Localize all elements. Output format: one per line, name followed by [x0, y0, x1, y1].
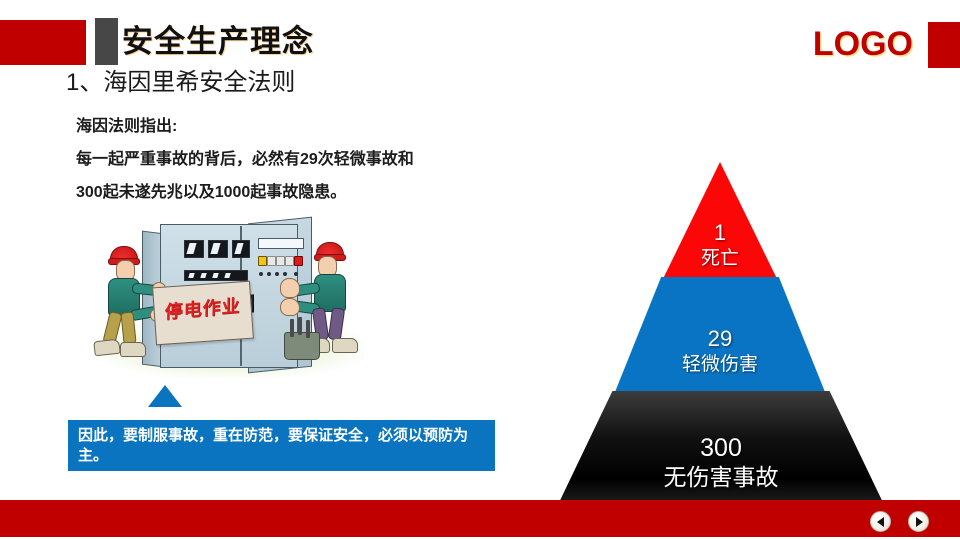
next-slide-button[interactable] — [908, 511, 929, 532]
arrow-left-icon — [877, 517, 884, 527]
meter-glint-1 — [186, 243, 196, 254]
heinrich-accident-pyramid: 1 死亡 29 轻微伤害 300 无伤害事故 — [520, 160, 940, 520]
page-title: 安全生产理念 — [122, 20, 314, 64]
pilot-dot-3 — [275, 272, 279, 276]
meter-display-2 — [208, 240, 228, 258]
pilot-dot-4 — [283, 272, 287, 276]
header-red-accent-block — [0, 20, 86, 65]
right-worker-boot-front — [332, 338, 358, 353]
indicator-led-white-1 — [267, 256, 276, 266]
meter-glint-3 — [234, 243, 243, 254]
tool-1 — [290, 319, 294, 337]
pyramid-layer-minor-injury-value: 29 — [708, 326, 732, 352]
strip-glint-3 — [212, 273, 218, 278]
header-logo-red-block — [928, 22, 960, 68]
pyramid-layer-minor-injury-label: 轻微伤害 — [682, 352, 758, 377]
indicator-led-red — [294, 256, 303, 266]
meter-display-1 — [184, 240, 204, 258]
pyramid-layer-minor-injury: 29 轻微伤害 — [613, 277, 827, 397]
body-paragraph: 海因法则指出: 每一起严重事故的背后，必然有29次轻微事故和 300起未遂先兆以… — [76, 110, 526, 209]
arrow-right-icon — [916, 517, 923, 527]
left-worker-boot-front — [120, 342, 146, 357]
power-outage-sign: 停电作业 — [152, 281, 254, 346]
tool-3 — [306, 320, 310, 338]
strip-glint-4 — [224, 273, 230, 278]
tool-2 — [298, 317, 302, 335]
safety-illustration: 停电作业 — [88, 212, 373, 382]
prev-slide-button[interactable] — [870, 511, 891, 532]
slide-canvas: 安全生产理念 LOGO 1、海因里希安全法则 海因法则指出: 每一起严重事故的背… — [0, 0, 960, 540]
meter-display-3 — [232, 240, 250, 258]
section-subtitle: 1、海因里希安全法则 — [66, 66, 295, 100]
logo-text: LOGO — [813, 22, 913, 66]
conclusion-callout-text: 因此，要制服事故，重在防范，要保证安全，必须以预防为主。 — [78, 426, 490, 466]
pilot-dot-1 — [259, 272, 263, 276]
indicator-led-white-2 — [276, 256, 285, 266]
pyramid-layer-no-injury: 300 无伤害事故 — [554, 391, 888, 513]
conclusion-callout: 因此，要制服事故，重在防范，要保证安全，必须以预防为主。 — [68, 420, 495, 471]
gauge-bar — [258, 238, 304, 249]
callout-pointer-triangle — [148, 385, 182, 407]
pilot-dot-5 — [294, 272, 298, 276]
footer-bar — [0, 500, 960, 537]
pilot-dot-2 — [267, 272, 271, 276]
body-line-2: 每一起严重事故的背后，必然有29次轻微事故和 — [76, 143, 526, 176]
meter-glint-2 — [210, 243, 220, 254]
pyramid-layer-no-injury-label: 无伤害事故 — [664, 463, 779, 492]
right-worker-hand-open-upper — [280, 278, 300, 298]
strip-glint-2 — [200, 273, 206, 278]
pyramid-layer-fatality-value: 1 — [714, 220, 726, 246]
pyramid-layer-no-injury-value: 300 — [700, 434, 742, 463]
power-outage-sign-text: 停电作业 — [161, 291, 245, 324]
header-gray-accent-block — [95, 18, 118, 65]
body-line-3: 300起未遂先兆以及1000起事故隐患。 — [76, 176, 526, 209]
indicator-led-yellow — [258, 256, 267, 266]
strip-glint-1 — [188, 273, 194, 278]
indicator-led-white-3 — [285, 256, 294, 266]
right-worker-hand-open-lower — [280, 298, 300, 316]
tool-bag — [284, 332, 320, 360]
meter-strip — [184, 270, 248, 281]
body-line-1: 海因法则指出: — [76, 110, 526, 143]
pyramid-layer-fatality: 1 死亡 — [661, 162, 779, 283]
pyramid-layer-fatality-label: 死亡 — [701, 246, 739, 271]
left-worker-boot-back — [93, 339, 120, 357]
